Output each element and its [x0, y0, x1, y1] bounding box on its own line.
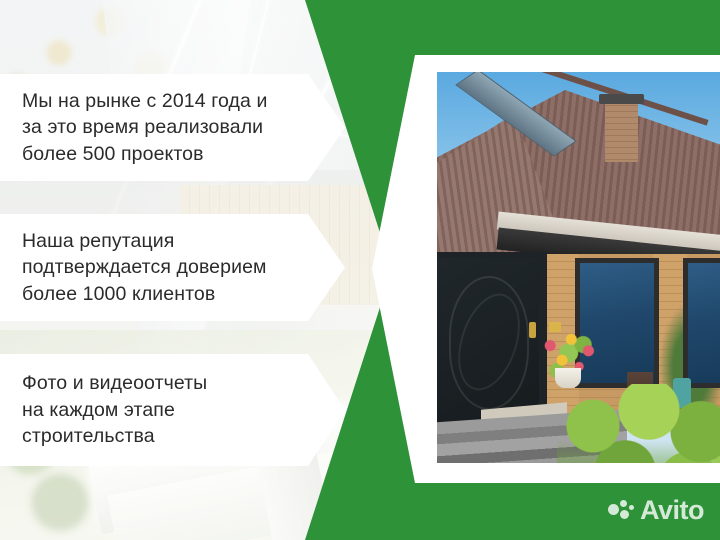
info-banner-market-experience: Мы на рынке с 2014 года и за это время р…: [0, 74, 345, 181]
photo-window: [683, 258, 720, 388]
photo-chimney: [605, 100, 638, 162]
info-banner-line: Наша репутация: [22, 228, 267, 255]
info-banner-line: строительства: [22, 423, 207, 450]
photo-door-handle: [529, 322, 536, 338]
info-banner-line: Фото и видеоотчеты: [22, 370, 207, 397]
advertisement-banner: Мы на рынке с 2014 года и за это время р…: [0, 0, 720, 540]
info-banner-line: за это время реализовали: [22, 114, 267, 141]
avito-wordmark: Avito: [640, 495, 704, 526]
info-banner-line: Мы на рынке с 2014 года и: [22, 88, 267, 115]
info-banner-line: более 1000 клиентов: [22, 281, 267, 308]
photo-hedge: [557, 384, 720, 463]
info-banner-text: Фото и видеоотчеты на каждом этапе строи…: [0, 370, 267, 450]
info-banner-text: Наша репутация подтверждается доверием б…: [0, 228, 327, 308]
photo-front-door: [437, 258, 539, 426]
avito-watermark: Avito: [608, 495, 704, 526]
avito-dots-icon: [608, 500, 634, 522]
photo-chimney-cap: [599, 94, 644, 104]
info-banner-line: подтверждается доверием: [22, 254, 267, 281]
info-banner-text: Мы на рынке с 2014 года и за это время р…: [0, 88, 327, 168]
info-banner-reporting: Фото и видеоотчеты на каждом этапе строи…: [0, 354, 345, 466]
info-banner-line: на каждом этапе: [22, 397, 207, 424]
info-banner-line: более 500 проектов: [22, 141, 267, 168]
info-banner-reputation: Наша репутация подтверждается доверием б…: [0, 214, 345, 321]
house-photo-content: [437, 72, 720, 463]
